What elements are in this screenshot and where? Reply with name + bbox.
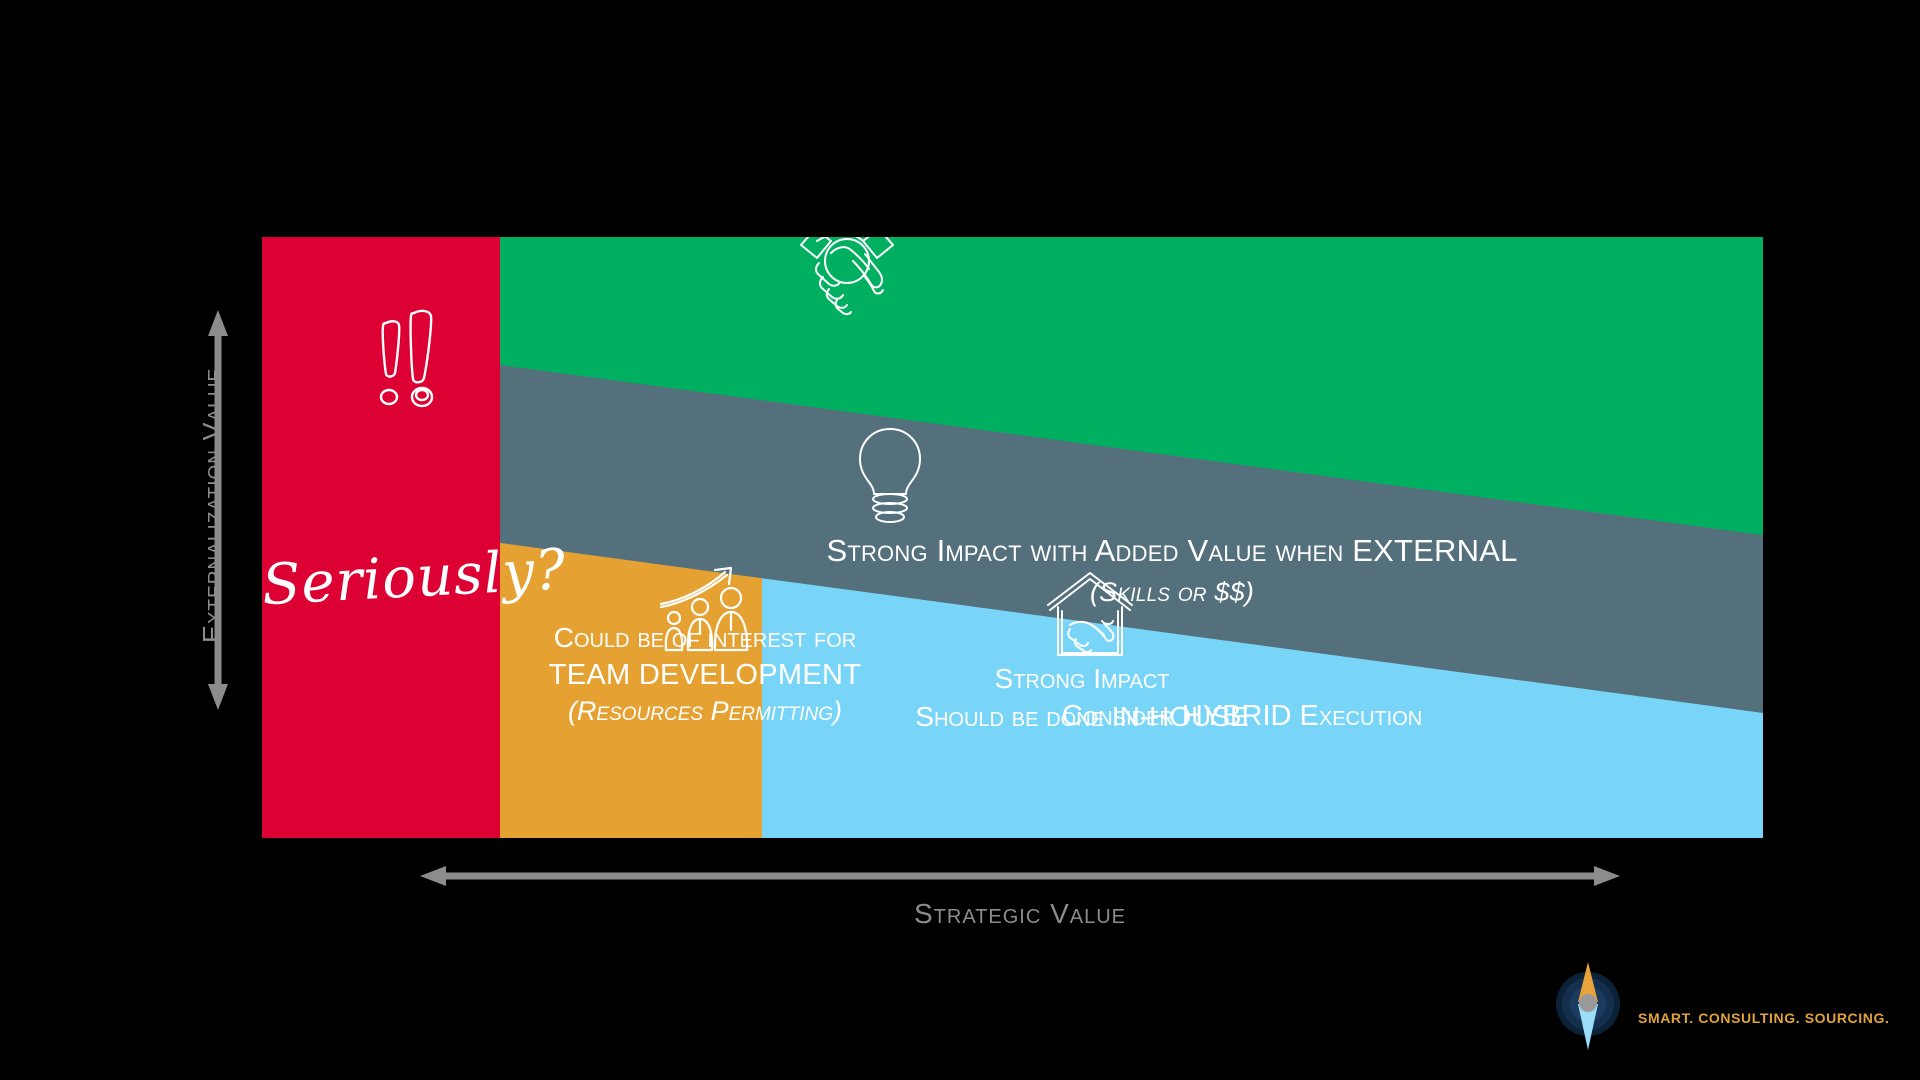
y-axis-arrow: Externalization Value: [208, 310, 228, 710]
inhouse-line2-prefix: Should be done: [915, 701, 1112, 732]
lightbulb-icon: [842, 423, 938, 533]
value-matrix: Seriously? Strong Impact with Added Valu…: [262, 237, 1763, 838]
team-line1: Could be of interest for: [510, 621, 900, 654]
external-line1-strong: EXTERNAL: [1352, 533, 1517, 568]
y-axis-label: Externalization Value: [198, 286, 229, 726]
external-line1-prefix: Strong Impact with Added Value when: [826, 533, 1352, 568]
company-logo-icon: [1548, 958, 1628, 1053]
x-axis-label: Strategic Value: [420, 898, 1620, 930]
logo-tagline: SMART. CONSULTING. SOURCING.: [1638, 1010, 1889, 1026]
exclamation-icon: [362, 309, 462, 419]
quadrant-external-label: Strong Impact with Added Value when EXTE…: [822, 533, 1522, 608]
x-axis-arrow: [420, 866, 1620, 886]
external-line2: (Skills or $$): [822, 577, 1522, 609]
inhouse-line1: Strong Impact: [802, 662, 1362, 695]
quadrant-in-house-label: Strong Impact Should be done IN-HOUSE: [802, 662, 1362, 733]
handshake-icon: [787, 237, 907, 325]
quadrant-seriously-label: Seriously?: [262, 541, 502, 619]
inhouse-line2-strong: IN-HOUSE: [1112, 701, 1249, 732]
